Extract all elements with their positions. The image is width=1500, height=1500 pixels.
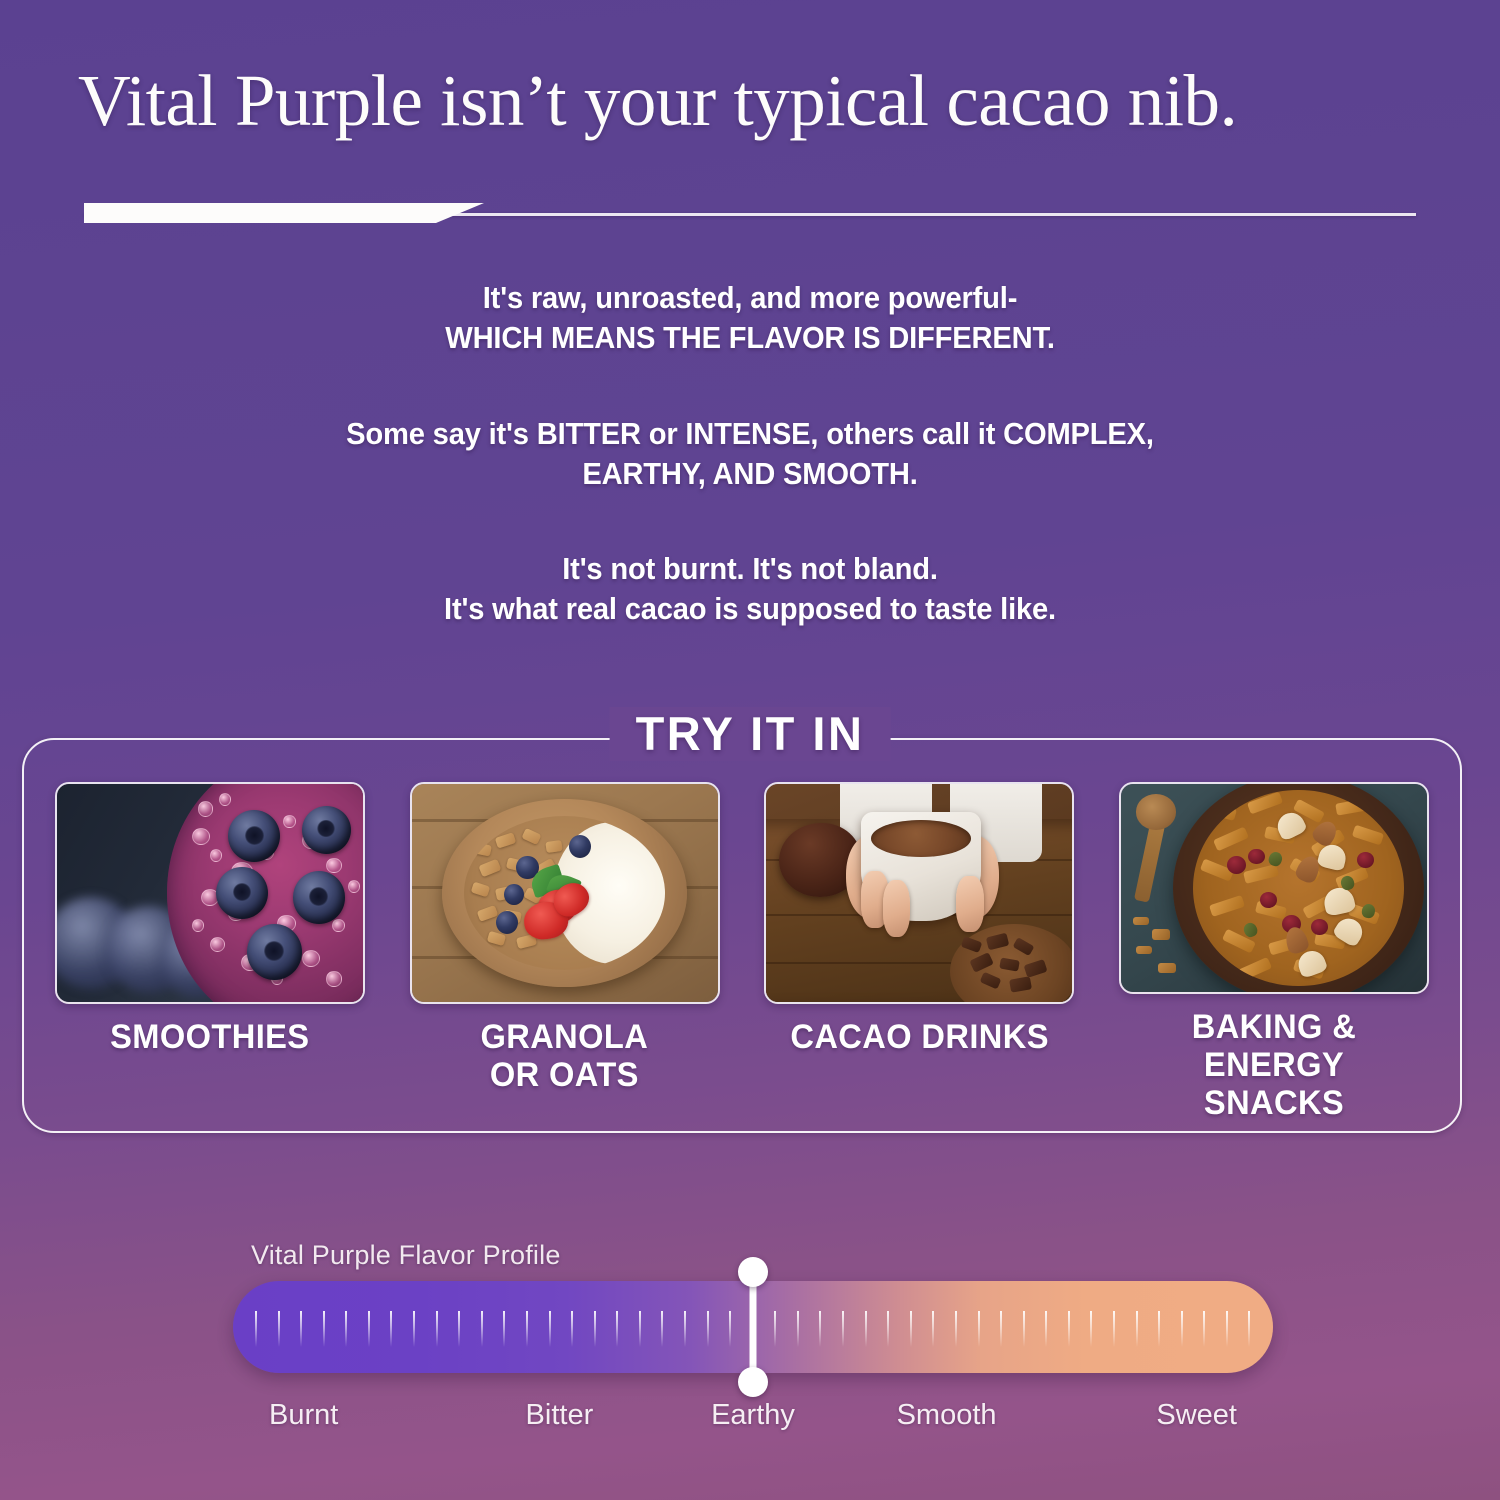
header-divider <box>84 203 1416 225</box>
flavor-tick <box>978 1311 980 1347</box>
usage-card-label-line-1: BAKING & ENERGY <box>1192 1008 1356 1084</box>
paragraph-3-line-1: It's not burnt. It's not bland. <box>233 549 1267 589</box>
usage-card-label: CACAO DRINKS <box>790 1018 1048 1056</box>
flavor-tick <box>1248 1311 1250 1347</box>
dried-cranberry <box>1260 892 1277 908</box>
usage-card-cacao-drinks: CACAO DRINKS <box>759 782 1079 1122</box>
blueberry <box>569 835 591 858</box>
cacao-drink-hands-photo <box>766 784 1072 1002</box>
flavor-tick <box>481 1311 483 1347</box>
blueberry <box>293 871 345 923</box>
divider-thick-bar <box>84 203 484 223</box>
flavor-tick <box>1203 1311 1205 1347</box>
flavor-slider-track[interactable] <box>233 1281 1273 1373</box>
try-it-in-title: TRY IT IN <box>610 706 891 761</box>
flavor-tick <box>774 1311 776 1347</box>
bowl-interior <box>464 816 665 970</box>
flavor-scale-label-earthy: Earthy <box>656 1399 850 1432</box>
dried-cranberry <box>1248 849 1265 865</box>
blueberry <box>216 867 268 919</box>
flavor-tick <box>1068 1311 1070 1347</box>
flavor-tick <box>413 1311 415 1347</box>
flavor-tick <box>278 1311 280 1347</box>
flavor-tick <box>526 1311 528 1347</box>
dried-cranberry <box>1311 919 1328 935</box>
flavor-tick <box>887 1311 889 1347</box>
flavor-scale-label-sweet: Sweet <box>1043 1399 1237 1432</box>
granola-thumbnail <box>410 782 720 1004</box>
usage-card-granola: GRANOLA OR OATS <box>405 782 725 1122</box>
usage-card-smoothies: SMOOTHIES <box>50 782 370 1122</box>
smoothies-thumbnail <box>55 782 365 1004</box>
flavor-tick <box>1113 1311 1115 1347</box>
flavor-tick <box>1023 1311 1025 1347</box>
flavor-tick <box>594 1311 596 1347</box>
usage-card-baking-energy: BAKING & ENERGY SNACKS <box>1114 782 1434 1122</box>
flavor-tick <box>1000 1311 1002 1347</box>
usage-card-label-line-2: SNACKS <box>1204 1084 1344 1122</box>
flavor-tick <box>661 1311 663 1347</box>
flavor-tick <box>1136 1311 1138 1347</box>
granola-yogurt-bowl-photo <box>412 784 718 1002</box>
dried-cranberry <box>1357 852 1374 868</box>
flavor-tick <box>549 1311 551 1347</box>
flavor-scale-label-smooth: Smooth <box>850 1399 1044 1432</box>
flavor-tick <box>729 1311 731 1347</box>
flavor-tick <box>1181 1311 1183 1347</box>
paragraph-2-line-1: Some say it's BITTER or INTENSE, others … <box>233 414 1267 454</box>
flavor-tick <box>255 1311 257 1347</box>
flavor-tick <box>436 1311 438 1347</box>
usage-card-list: SMOOTHIES <box>22 782 1462 1122</box>
cacao-drink <box>871 820 971 857</box>
flavor-tick <box>842 1311 844 1347</box>
flavor-tick <box>616 1311 618 1347</box>
paragraph-1: It's raw, unroasted, and more powerful- … <box>233 278 1267 359</box>
flavor-tick <box>458 1311 460 1347</box>
usage-card-label: GRANOLA OR OATS <box>481 1018 649 1094</box>
flavor-tick <box>1045 1311 1047 1347</box>
paragraph-1-line-1: It's raw, unroasted, and more powerful- <box>233 278 1267 318</box>
flavor-tick <box>910 1311 912 1347</box>
usage-card-label: BAKING & ENERGY SNACKS <box>1120 1008 1427 1122</box>
flavor-tick <box>684 1311 686 1347</box>
thumb-dot-top <box>738 1257 768 1287</box>
fingers <box>956 876 984 933</box>
usage-card-label: SMOOTHIES <box>110 1018 309 1056</box>
wooden-bowl <box>442 799 687 986</box>
body-copy: It's raw, unroasted, and more powerful- … <box>200 278 1300 630</box>
blueberry <box>302 806 351 854</box>
flavor-tick <box>932 1311 934 1347</box>
flavor-tick <box>819 1311 821 1347</box>
flavor-tick <box>865 1311 867 1347</box>
flavor-profile-slider: Vital Purple Flavor Profile BurntBitterE… <box>233 1240 1273 1432</box>
flavor-tick <box>955 1311 957 1347</box>
flavor-tick <box>300 1311 302 1347</box>
dark-bowl <box>1173 782 1424 994</box>
flavor-tick <box>797 1311 799 1347</box>
thumb-dot-bottom <box>738 1367 768 1397</box>
dried-cranberry <box>1227 856 1246 874</box>
blueberry-smoothie-photo <box>57 784 363 1002</box>
flavor-tick <box>639 1311 641 1347</box>
flavor-tick <box>1158 1311 1160 1347</box>
wooden-spoon <box>1136 794 1176 829</box>
page-headline: Vital Purple isn’t your typical cacao ni… <box>78 62 1438 141</box>
flavor-scale-label-burnt: Burnt <box>269 1399 463 1432</box>
flavor-scale-label-bitter: Bitter <box>463 1399 657 1432</box>
paragraph-2: Some say it's BITTER or INTENSE, others … <box>233 414 1267 495</box>
flavor-tick <box>345 1311 347 1347</box>
granola-mix <box>1193 790 1404 987</box>
cacao-nibs <box>956 932 1060 1002</box>
paragraph-1-line-2: WHICH MEANS THE FLAVOR IS DIFFERENT. <box>233 318 1267 358</box>
flavor-scale-labels: BurntBitterEarthySmoothSweet <box>233 1399 1273 1432</box>
paragraph-2-line-2: EARTHY, AND SMOOTH. <box>233 454 1267 494</box>
energy-granola-bowl-photo <box>1121 784 1427 992</box>
spoon-handle <box>1134 823 1165 903</box>
usage-card-label-line-2: OR OATS <box>490 1056 639 1094</box>
cacao-drinks-thumbnail <box>764 782 1074 1004</box>
blueberry <box>247 924 302 981</box>
paragraph-3: It's not burnt. It's not bland. It's wha… <box>233 549 1267 630</box>
baking-energy-thumbnail <box>1119 782 1429 994</box>
usage-card-label-line-1: GRANOLA <box>481 1018 649 1056</box>
flavor-tick <box>368 1311 370 1347</box>
flavor-tick <box>1226 1311 1228 1347</box>
paragraph-3-line-2: It's what real cacao is supposed to tast… <box>233 589 1267 629</box>
flavor-tick <box>1090 1311 1092 1347</box>
fingers <box>883 880 911 937</box>
flavor-tick <box>707 1311 709 1347</box>
flavor-tick <box>323 1311 325 1347</box>
pumpkin-seed <box>1360 902 1375 918</box>
flavor-tick <box>503 1311 505 1347</box>
flavor-tick <box>390 1311 392 1347</box>
flavor-tick <box>571 1311 573 1347</box>
